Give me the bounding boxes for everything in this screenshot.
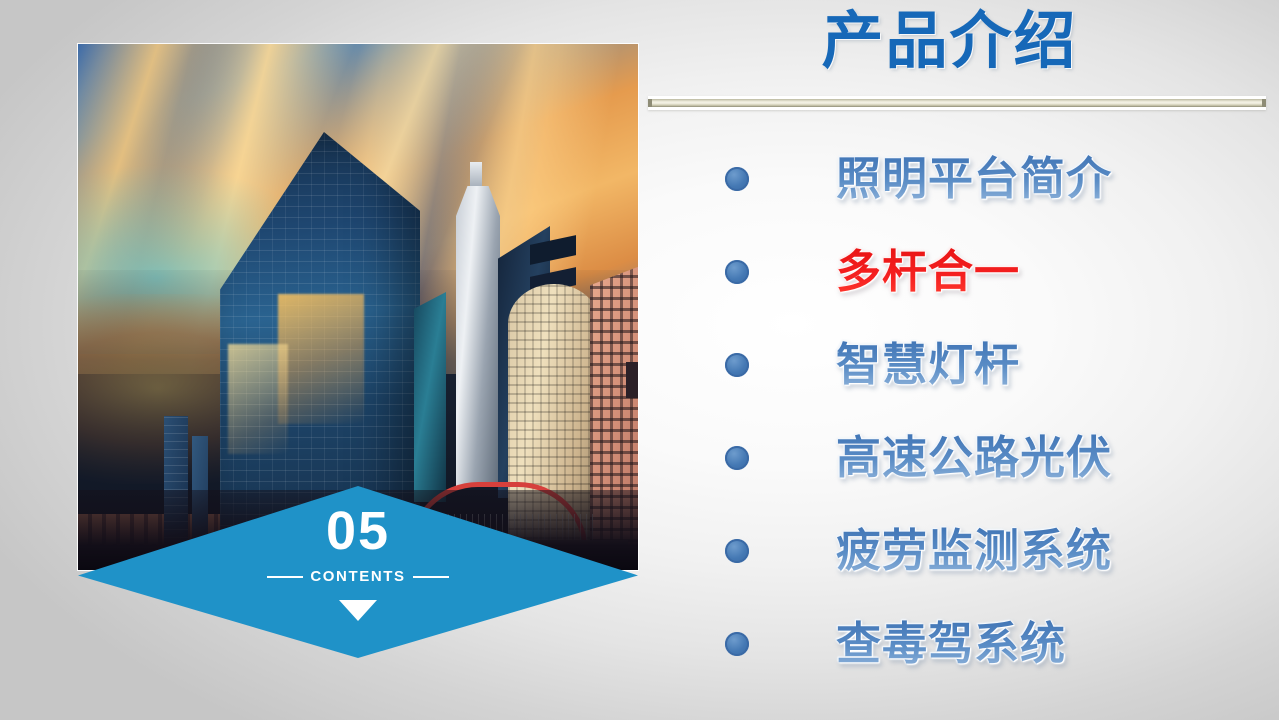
spire-tower bbox=[456, 186, 500, 486]
bullet-dot-icon bbox=[725, 539, 749, 563]
cityscape-photo bbox=[78, 44, 638, 570]
bullet-dot-icon bbox=[725, 446, 749, 470]
photo-canvas bbox=[78, 44, 638, 570]
list-item[interactable]: 智慧灯杆 bbox=[640, 318, 1279, 411]
list-item-label: 查毒驾系统 bbox=[836, 618, 1066, 670]
list-item[interactable]: 照明平台简介 bbox=[640, 132, 1279, 225]
bullet-dot-icon bbox=[725, 167, 749, 191]
contents-label: CONTENTS bbox=[310, 568, 405, 585]
list-item[interactable]: 疲劳监测系统 bbox=[640, 504, 1279, 597]
teal-tower bbox=[414, 292, 446, 502]
list-item-label: 照明平台简介 bbox=[836, 153, 1112, 205]
list-item[interactable]: 高速公路光伏 bbox=[640, 411, 1279, 504]
brick-tower-notch bbox=[626, 362, 638, 398]
list-item-label: 智慧灯杆 bbox=[836, 339, 1020, 391]
title-divider bbox=[648, 96, 1266, 110]
contents-rule-left bbox=[267, 576, 303, 578]
list-item-label: 高速公路光伏 bbox=[836, 432, 1112, 484]
contents-rule-right bbox=[413, 576, 449, 578]
bullet-dot-icon bbox=[725, 260, 749, 284]
down-triangle-icon bbox=[339, 600, 377, 621]
list-item[interactable]: 查毒驾系统 bbox=[640, 597, 1279, 690]
tower-reflection-1 bbox=[278, 294, 364, 424]
right-content-column: 产品介绍 照明平台简介 多杆合一 智慧灯杆 高速公路光伏 疲劳监测系统 bbox=[640, 0, 1279, 720]
presentation-slide: 05 CONTENTS 产品介绍 照明平台简介 多杆合一 智慧灯杆 bbox=[0, 0, 1279, 720]
list-item[interactable]: 多杆合一 bbox=[640, 225, 1279, 318]
bullet-dot-icon bbox=[725, 353, 749, 377]
bullet-list: 照明平台简介 多杆合一 智慧灯杆 高速公路光伏 疲劳监测系统 查毒驾系统 bbox=[640, 132, 1279, 690]
bullet-dot-icon bbox=[725, 632, 749, 656]
contents-label-row: CONTENTS bbox=[78, 568, 638, 585]
page-title: 产品介绍 bbox=[640, 4, 1259, 78]
list-item-label: 多杆合一 bbox=[836, 246, 1020, 298]
list-item-label: 疲劳监测系统 bbox=[836, 525, 1112, 577]
tower-reflection-2 bbox=[228, 344, 288, 454]
foreground-ground bbox=[78, 490, 638, 570]
